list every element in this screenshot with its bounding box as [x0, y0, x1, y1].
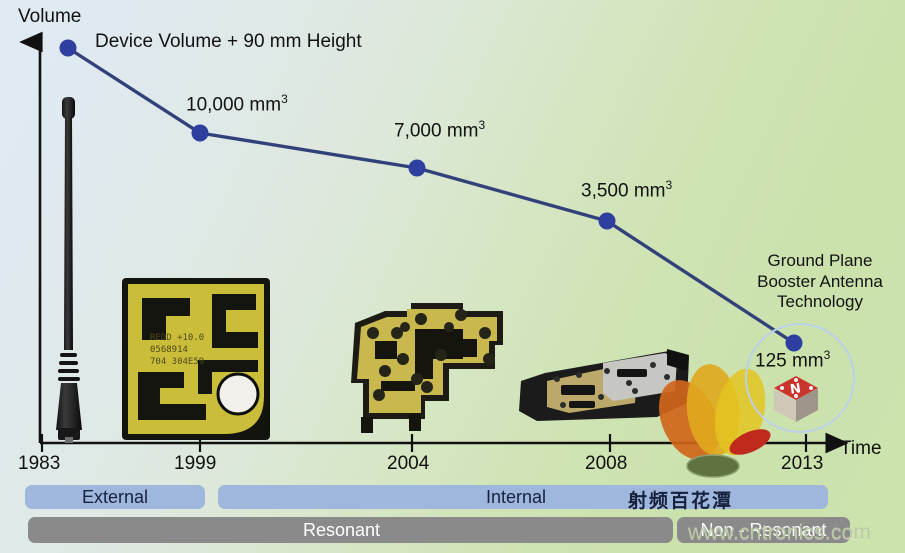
x-axis-label: Time — [840, 438, 882, 460]
value-number-2013: 125 — [755, 350, 792, 371]
value-label-2004: 7,000 mm3 — [394, 118, 485, 142]
svg-text:REDD +10.0: REDD +10.0 — [150, 333, 204, 343]
legend-bar-resonant-label: Resonant — [303, 520, 380, 541]
yellow-pcb-antenna-photo: REDD +10.0 0568914 704 304E59 — [120, 276, 272, 442]
value-label-2008: 3,500 mm3 — [581, 178, 672, 202]
x-tick-label-2004: 2004 — [387, 453, 429, 475]
value-exponent-2008: 3 — [665, 178, 672, 192]
legend-bar-internal: Internal — [218, 485, 828, 509]
svg-text:704 304E59: 704 304E59 — [150, 357, 204, 367]
series-headline-label: Device Volume + 90 mm Height — [95, 31, 362, 53]
value-exponent-1999: 3 — [281, 92, 288, 106]
value-number-1999: 10,000 — [186, 94, 249, 115]
value-unit-2004: mm — [447, 120, 479, 141]
value-exponent-2004: 3 — [478, 118, 485, 132]
chart-canvas: REDD +10.0 0568914 704 304E59 — [0, 0, 905, 553]
gold-pcb-antenna-photo — [345, 283, 513, 443]
x-tick-label-2013: 2013 — [781, 453, 823, 475]
value-label-1999: 10,000 mm3 — [186, 92, 288, 116]
data-point-1983 — [60, 40, 77, 57]
value-unit-1999: mm — [249, 94, 281, 115]
site-watermark: www.cntronics.com — [688, 521, 871, 545]
value-label-2013: 125 mm3 — [755, 348, 830, 372]
data-point-1999 — [192, 125, 209, 142]
gpba-annotation: Ground Plane Booster Antenna Technology — [745, 251, 895, 313]
x-tick-label-2008: 2008 — [585, 453, 627, 475]
value-unit-2013: mm — [792, 350, 824, 371]
value-number-2004: 7,000 — [394, 120, 447, 141]
x-tick-label-1999: 1999 — [174, 453, 216, 475]
legend-bar-external: External — [25, 485, 205, 509]
legend-bar-internal-label: Internal — [486, 487, 546, 508]
value-unit-2008: mm — [634, 180, 666, 201]
legend-bar-resonant: Resonant — [28, 517, 673, 543]
y-axis-label: Volume — [18, 6, 81, 28]
legend-bar-external-label: External — [82, 487, 148, 508]
value-number-2008: 3,500 — [581, 180, 634, 201]
svg-text:0568914: 0568914 — [150, 345, 188, 355]
value-exponent-2013: 3 — [824, 348, 831, 362]
gpba-highlight-circle — [745, 323, 855, 433]
data-point-2004 — [409, 160, 426, 177]
x-tick-label-1983: 1983 — [18, 453, 60, 475]
whip-antenna-photo — [52, 95, 86, 443]
legend-bar-chinese-label: 射频百花潭 — [628, 486, 733, 513]
data-point-2008 — [599, 213, 616, 230]
